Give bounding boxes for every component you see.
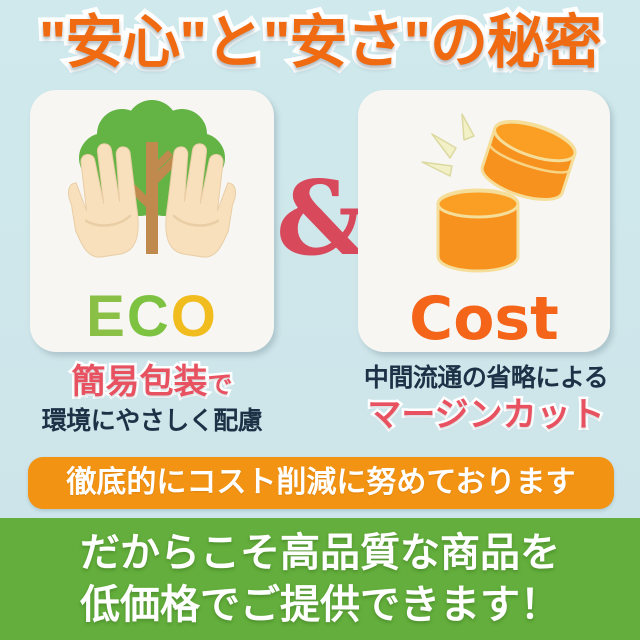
eco-panel: ECO [30, 90, 274, 352]
ampersand-connector: & [276, 168, 366, 270]
page-title: "安心"と"安さ"の秘密 [0, 6, 640, 80]
promotional-banner: "安心"と"安さ"の秘密 [0, 0, 640, 640]
footer-message: だからこそ高品質な商品を 低価格でご提供できます！ [0, 518, 640, 640]
footer-line-1: だからこそ高品質な商品を [80, 527, 560, 579]
cost-caption: 中間流通の省略による マージンカット [352, 362, 620, 435]
cost-panel: Cost [358, 90, 610, 352]
footer-line-2: 低価格でご提供できます！ [80, 579, 560, 631]
eco-letter-o: O [171, 284, 218, 349]
coin-stack-upright-icon [438, 190, 518, 271]
sparkle-icon [422, 114, 474, 176]
eco-caption-main-text: 簡易包装 [71, 363, 207, 401]
cost-wordmark: Cost [358, 288, 610, 350]
eco-caption-sub: 環境にやさしく配慮 [18, 405, 286, 437]
cost-illustration [358, 90, 610, 300]
cost-reduction-banner: 徹底的にコスト削減に努めております [28, 457, 614, 509]
eco-letter-e: E [86, 284, 127, 349]
cost-caption-sub: 中間流通の省略による [352, 362, 620, 394]
eco-caption-main-suffix: で [207, 371, 232, 399]
cost-reduction-banner-text: 徹底的にコスト削減に努めております [66, 466, 575, 500]
eco-letter-c: C [127, 284, 171, 349]
cost-caption-main: マージンカット [352, 395, 620, 435]
eco-wordmark: ECO [30, 288, 274, 346]
eco-caption: 簡易包装で 環境にやさしく配慮 [18, 362, 286, 437]
eco-illustration [30, 90, 274, 306]
eco-caption-main: 簡易包装で [18, 362, 286, 405]
